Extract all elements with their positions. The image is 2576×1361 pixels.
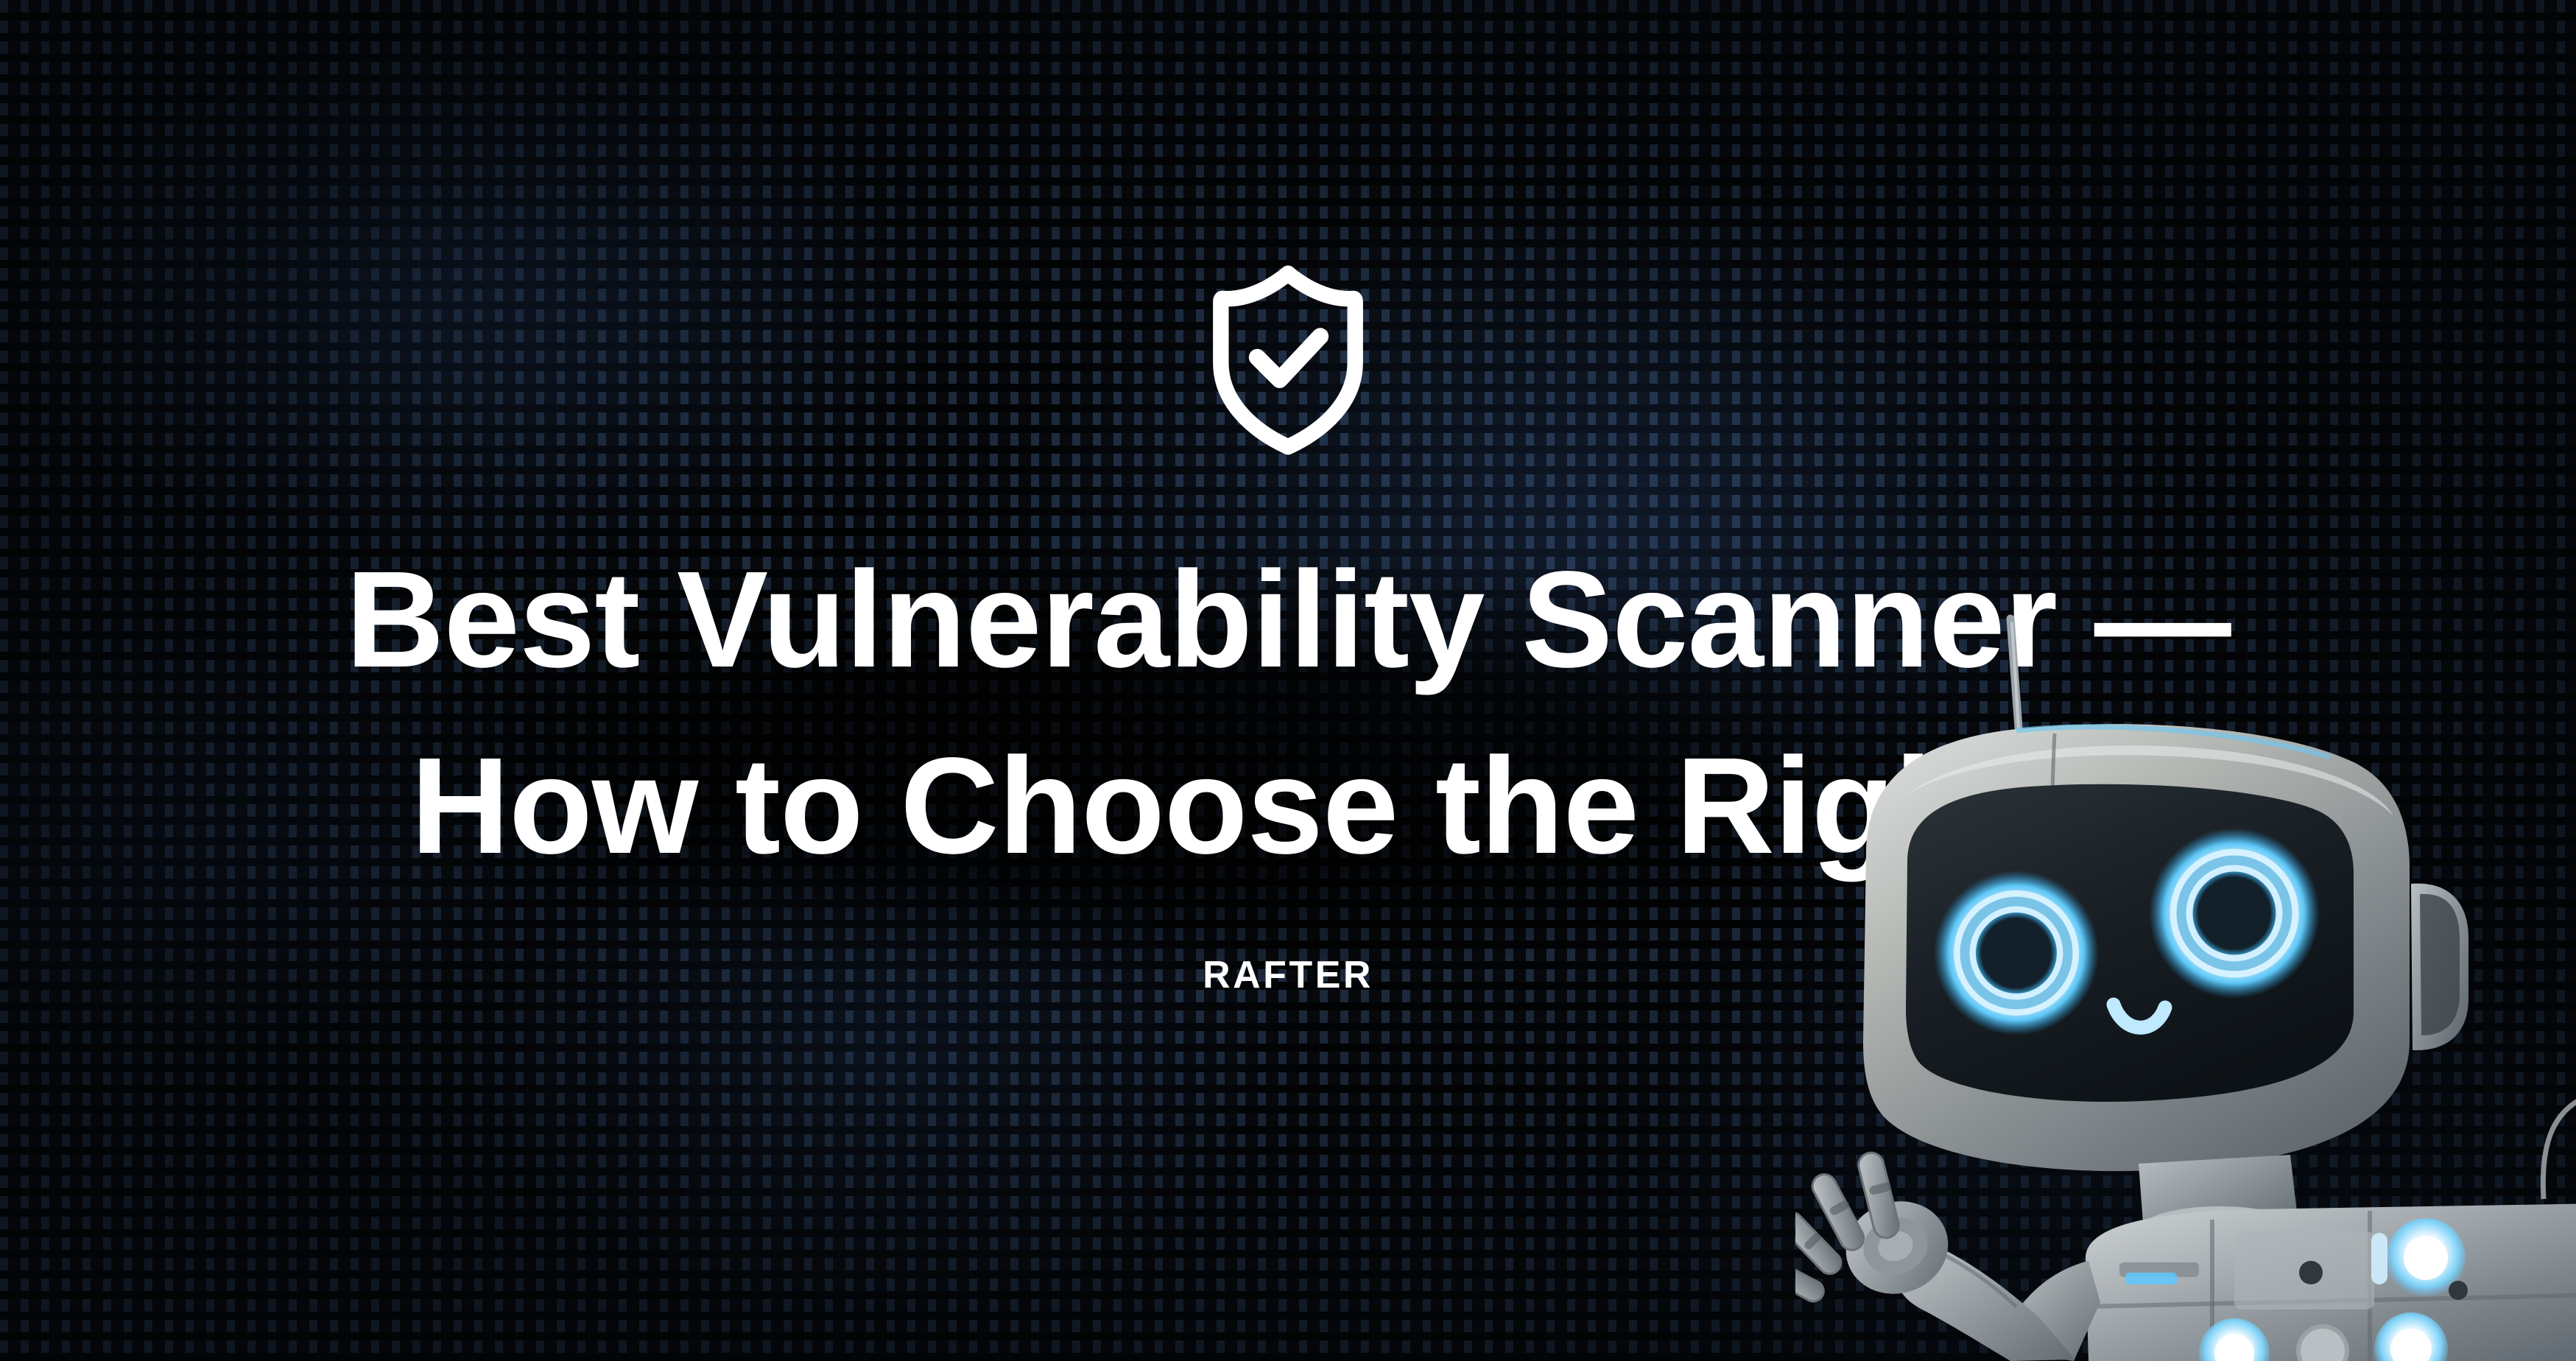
hero-banner: Best Vulnerability Scanner — How to Choo…	[0, 0, 2576, 1361]
page-title-line-2: How to Choose the Right O	[345, 714, 2231, 900]
shield-check-icon	[1204, 256, 1372, 464]
brand-wordmark: RAFTER	[1203, 953, 1373, 997]
page-title: Best Vulnerability Scanner — How to Choo…	[345, 527, 2231, 900]
page-title-line-1: Best Vulnerability Scanner —	[345, 527, 2231, 714]
